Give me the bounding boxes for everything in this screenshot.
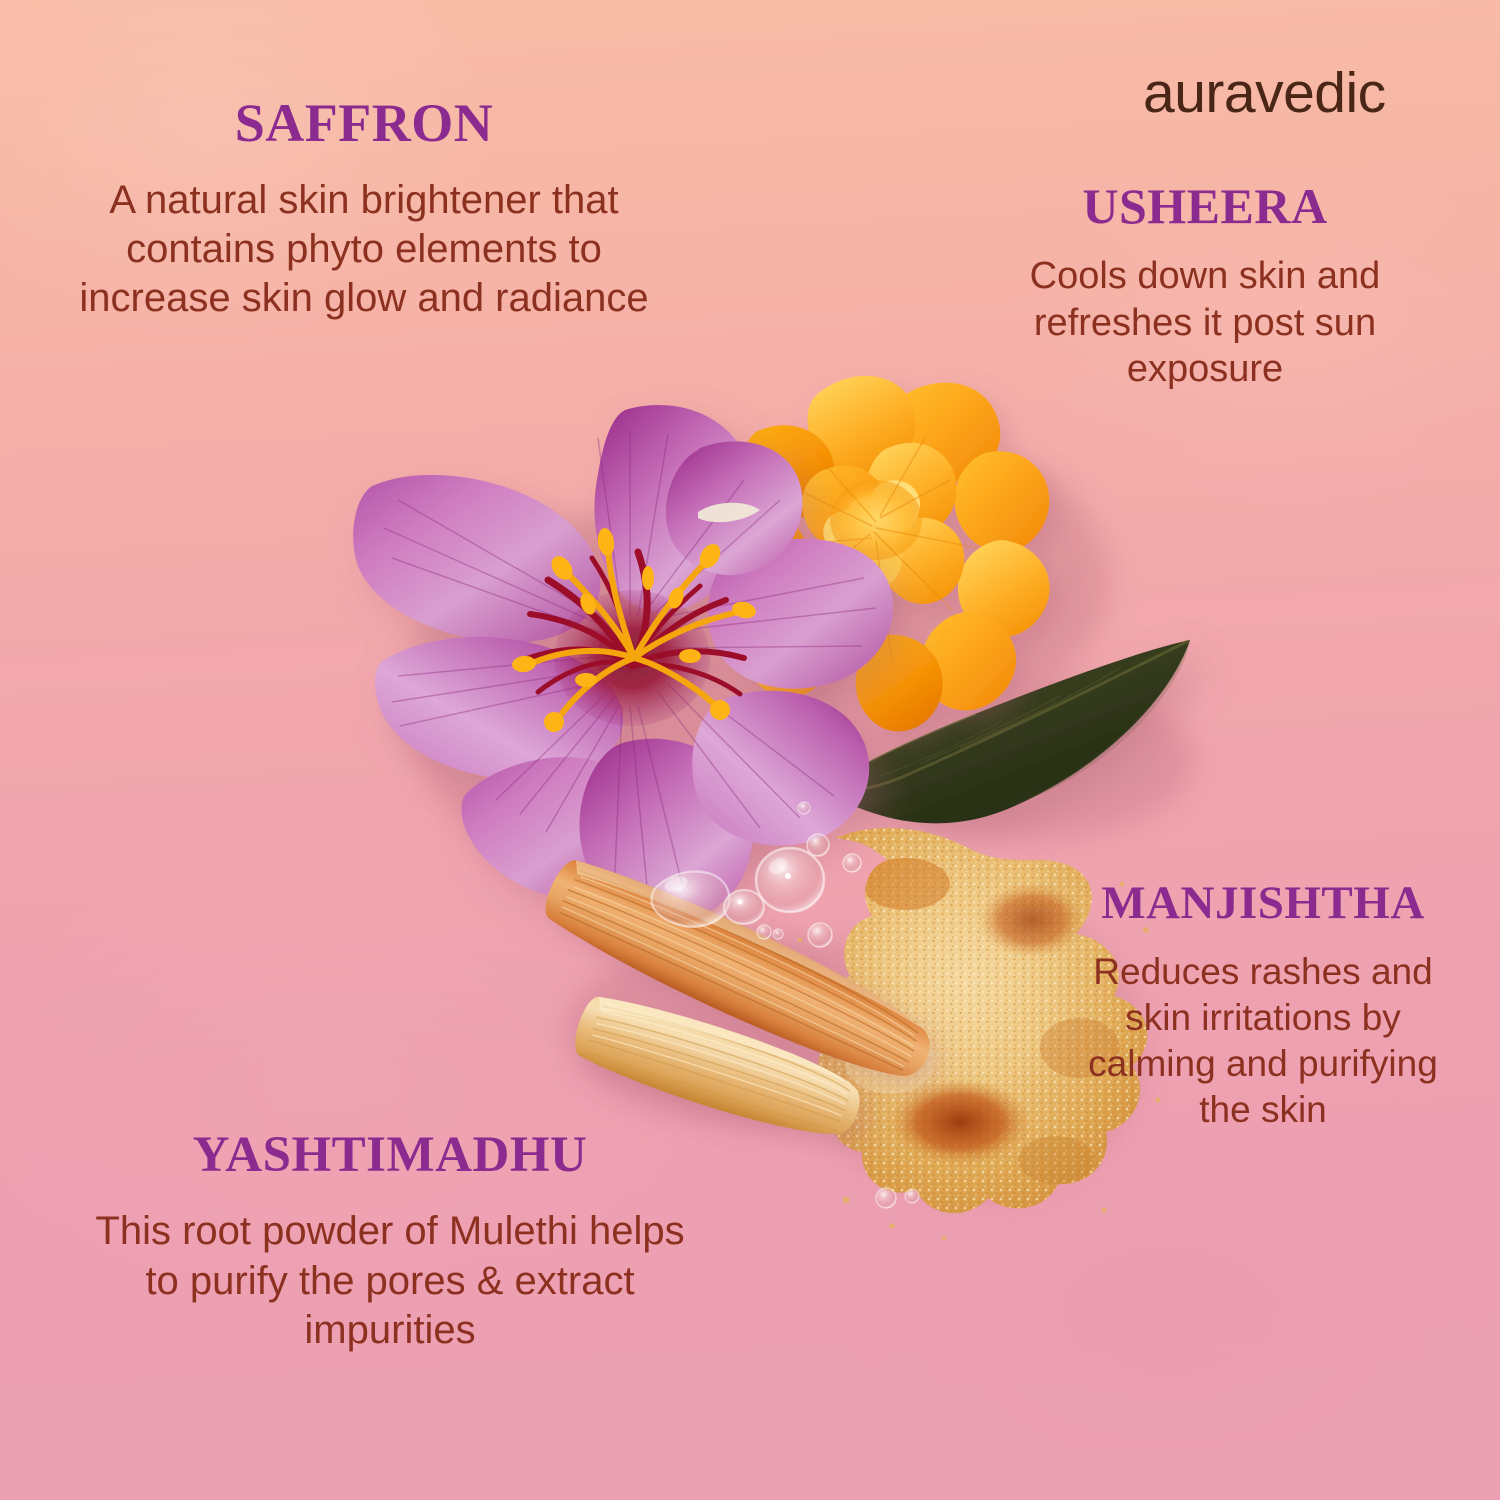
ingredient-heading-yashtimadhu: YASHTIMADHU <box>80 1130 700 1181</box>
ingredient-block-manjishtha: MANJISHTHA Reduces rashes and skin irrit… <box>1058 880 1468 1133</box>
ingredient-description-manjishtha: Reduces rashes and skin irritations by c… <box>1058 949 1468 1133</box>
ingredient-description-yashtimadhu: This root powder of Mulethi helps to pur… <box>80 1207 700 1356</box>
brand-logo: auravedic <box>1143 62 1433 124</box>
ingredient-heading-saffron: SAFFRON <box>58 96 670 150</box>
brand-logo-text: auravedic <box>1143 62 1433 124</box>
ingredient-heading-usheera: USHEERA <box>985 181 1425 231</box>
ingredient-heading-manjishtha: MANJISHTHA <box>1058 880 1468 927</box>
ingredient-infographic-poster: auravedic SAFFRON A natural skin brighte… <box>0 0 1500 1500</box>
ingredient-block-usheera: USHEERA Cools down skin and refreshes it… <box>985 181 1425 393</box>
ingredient-description-usheera: Cools down skin and refreshes it post su… <box>985 253 1425 393</box>
ingredient-description-saffron: A natural skin brightener that contains … <box>58 176 670 324</box>
ingredient-block-saffron: SAFFRON A natural skin brightener that c… <box>58 96 670 324</box>
ingredient-block-yashtimadhu: YASHTIMADHU This root powder of Mulethi … <box>80 1130 700 1356</box>
